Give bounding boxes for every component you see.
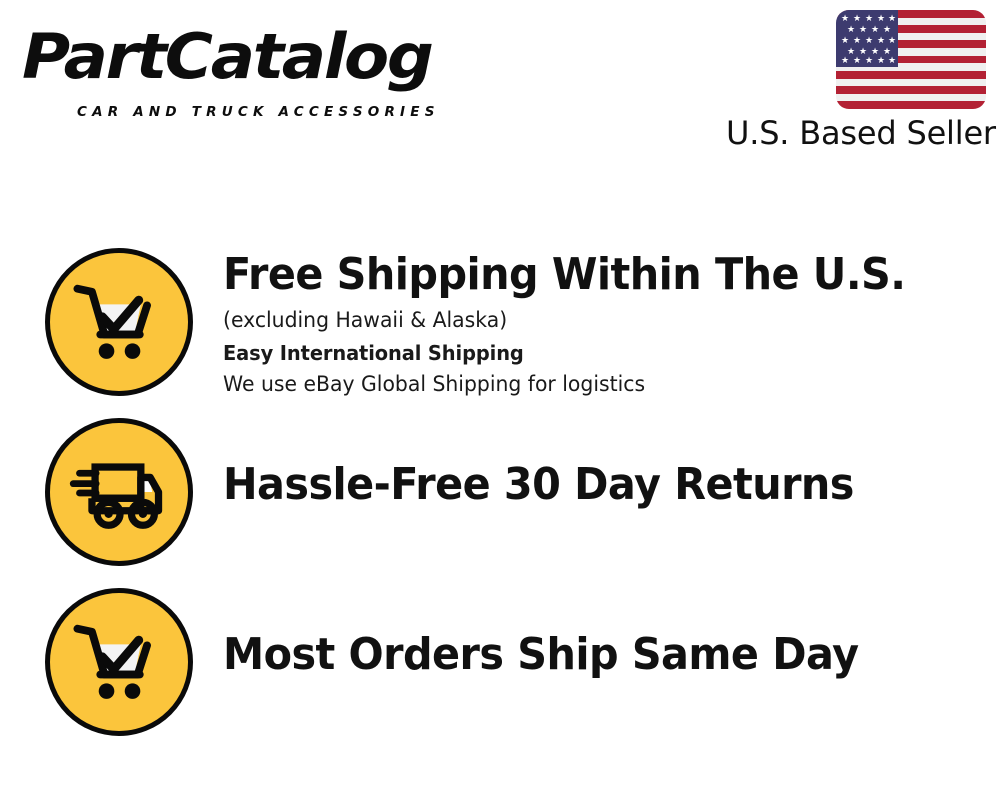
brand-logo: PartCatalog CAR AND TRUCK ACCESSORIES — [22, 26, 492, 116]
flag-stripe — [836, 86, 986, 94]
us-based-seller-label: U.S. Based Seller — [726, 116, 986, 151]
feature-text: Hassle-Free 30 Day Returns — [223, 462, 963, 508]
flag-star-icon: ★ — [888, 15, 896, 24]
flag-star-icon: ★ — [877, 37, 885, 46]
brand-tagline: CAR AND TRUCK ACCESSORIES — [77, 104, 440, 120]
feature-sublines: (excluding Hawaii & Alaska) Easy Interna… — [223, 306, 963, 400]
flag-star-icon: ★ — [877, 57, 885, 66]
flag-star-icon: ★ — [865, 15, 873, 24]
flag-star-icon: ★ — [865, 37, 873, 46]
feature-subline: Easy International Shipping — [223, 339, 941, 367]
brand-wordmark: PartCatalog — [22, 26, 432, 88]
shopping-cart-check-icon — [45, 588, 193, 736]
feature-headline: Hassle-Free 30 Day Returns — [223, 462, 919, 508]
flag-star-icon: ★ — [888, 37, 896, 46]
flag-star-icon: ★ — [853, 37, 861, 46]
flag-star-icon: ★ — [841, 15, 849, 24]
flag-star-icon: ★ — [841, 37, 849, 46]
flag-stripe — [836, 79, 986, 87]
flag-star-icon: ★ — [853, 15, 861, 24]
shopping-cart-check-icon — [45, 248, 193, 396]
us-based-seller-badge: ★ ★ ★ ★ ★ ★ ★ ★ ★ ★ ★ ★ ★ ★ ★ ★ ★ ★ ★ ★ — [726, 10, 986, 151]
feature-text: Free Shipping Within The U.S. (excluding… — [223, 252, 963, 400]
flag-star-icon: ★ — [871, 26, 879, 35]
flag-star-icon: ★ — [883, 26, 891, 35]
us-flag-icon: ★ ★ ★ ★ ★ ★ ★ ★ ★ ★ ★ ★ ★ ★ ★ ★ ★ ★ ★ ★ — [836, 10, 986, 109]
flag-star-icon: ★ — [841, 57, 849, 66]
feature-subline: (excluding Hawaii & Alaska) — [223, 306, 941, 336]
flag-star-icon: ★ — [859, 26, 867, 35]
flag-star-icon: ★ — [865, 57, 873, 66]
flag-stripe — [836, 101, 986, 109]
flag-stripe — [836, 94, 986, 102]
flag-canton: ★ ★ ★ ★ ★ ★ ★ ★ ★ ★ ★ ★ ★ ★ ★ ★ ★ ★ ★ ★ — [836, 10, 898, 67]
flag-star-icon: ★ — [877, 15, 885, 24]
delivery-truck-icon — [45, 418, 193, 566]
feature-headline: Free Shipping Within The U.S. — [223, 252, 919, 298]
feature-headline: Most Orders Ship Same Day — [223, 632, 919, 678]
feature-subline: We use eBay Global Shipping for logistic… — [223, 370, 941, 400]
feature-text: Most Orders Ship Same Day — [223, 632, 963, 678]
flag-star-icon: ★ — [847, 26, 855, 35]
flag-star-icon: ★ — [888, 57, 896, 66]
promo-banner: PartCatalog CAR AND TRUCK ACCESSORIES — [0, 0, 1000, 800]
flag-star-icon: ★ — [853, 57, 861, 66]
flag-stripe — [836, 71, 986, 79]
